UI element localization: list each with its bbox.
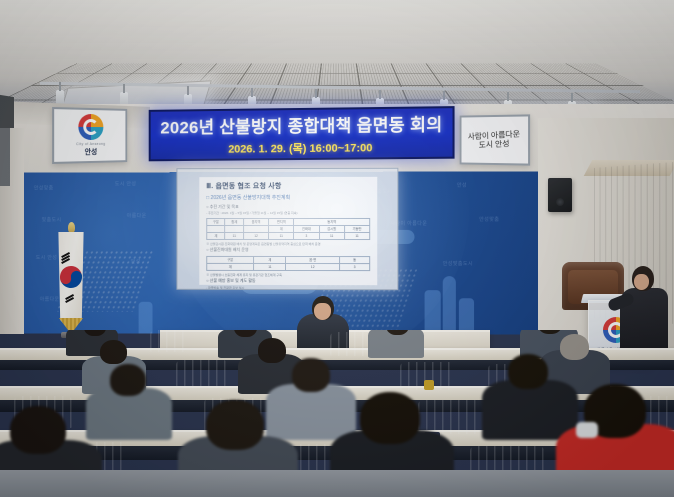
slide-table-2: 구분 계 읍·면 동 계 11 12 3	[206, 256, 370, 271]
table-header-cell: 계	[254, 257, 286, 264]
backdrop-watermark: 안성	[457, 182, 467, 189]
right-calligraphy-screen: 사람이 아름다운 도시 안성	[460, 114, 530, 165]
slide-subtitle: □ 2026년 읍면동 산불방지대책 추진계획	[206, 194, 370, 202]
table-cell: 11	[225, 233, 243, 240]
speaker-face	[634, 274, 649, 290]
conference-hall-photo: City of Anseong 안성 2026년 산불방지 종합대책 읍면동 회…	[0, 0, 674, 497]
slide-note-2: ※ 산불발생시 초동진화 체계 유지 및 유관기관 협조체계 구축	[206, 273, 370, 277]
backdrop-watermark: 맞춤도시	[42, 216, 62, 223]
table-cell: 계	[207, 264, 254, 271]
table-row: 계 11 12 11 3 11 11	[207, 233, 370, 240]
table-header-cell: 구분	[207, 257, 254, 264]
slide-note-1: ※ 산불감시원·진화대원 배치 및 운영계획은 읍면동별 산불취약지역 중심으로…	[206, 242, 370, 246]
slide-note-3: - 마을방송 및 전광판 홍보 실시	[206, 286, 370, 290]
table-header-cell: 읍·면	[286, 257, 340, 264]
table-header-cell: 면지역	[269, 219, 294, 226]
table-subheader-cell	[207, 226, 225, 233]
backdrop-watermark: 안성맞춤도시	[443, 260, 473, 267]
anseong-city-logo: City of Anseong 안성	[76, 114, 105, 158]
slide-title: Ⅲ. 읍면동 협조 요청 사항	[206, 182, 370, 193]
backdrop-watermark: 안성	[131, 258, 141, 265]
slide-line-1: - 추진기간 : 2026. 1월 ~ 5월 15일 / 가을철 11월 ~ 1…	[206, 211, 370, 215]
left-logo-screen: City of Anseong 안성	[52, 107, 127, 164]
slide-section-3: ○ 산불 예방 홍보 및 계도 활동	[206, 278, 370, 284]
desk-item	[424, 380, 434, 390]
table-cell: 3	[340, 264, 370, 271]
table-header-cell: 읍지역	[244, 219, 269, 226]
backdrop-watermark: 아름다운	[127, 212, 147, 219]
table-subheader-cell: 계	[269, 226, 294, 233]
table-cell: 11	[269, 233, 294, 240]
table-header-cell: 동지역	[294, 219, 370, 226]
table-cell: 11	[344, 233, 369, 240]
table-cell: 11	[254, 264, 286, 271]
official-face	[314, 303, 331, 320]
city-logo-icon	[78, 114, 103, 140]
korea-national-flag	[56, 232, 86, 332]
table-subheader-row: 계 진화대 감시원 기동반	[207, 226, 370, 233]
banner-subtitle: 2026. 1. 29. (목) 16:00~17:00	[228, 139, 372, 156]
table-header-cell: 구분	[207, 219, 225, 226]
table-header-cell: 동	[340, 257, 370, 264]
led-banner: 2026년 산불방지 종합대책 읍면동 회의 2026. 1. 29. (목) …	[149, 106, 455, 161]
floor	[0, 470, 674, 497]
audience-chair[interactable]	[150, 330, 190, 352]
backdrop-watermark: 안성맞춤	[479, 216, 499, 223]
table-cell: 12	[244, 233, 269, 240]
table-cell: 계	[207, 233, 225, 240]
table-cell: 3	[294, 233, 319, 240]
pa-speaker-icon	[548, 178, 572, 212]
presentation-slide: Ⅲ. 읍면동 협조 요청 사항 □ 2026년 읍면동 산불방지대책 추진계획 …	[199, 177, 377, 285]
taeguk-symbol	[58, 264, 84, 290]
slide-section-2: ○ 산불진화대원 배치 운영	[206, 247, 370, 253]
table-cell: 11	[319, 233, 344, 240]
table-row: 계 11 12 3	[207, 264, 370, 271]
calligraphy-text: 사람이 아름다운 도시 안성	[468, 129, 521, 150]
backdrop-watermark: 안성맞춤	[34, 184, 54, 191]
projection-screen: Ⅲ. 읍면동 협조 요청 사항 □ 2026년 읍면동 산불방지대책 추진계획 …	[176, 168, 398, 290]
backdrop-watermark: 도시 안성	[36, 254, 57, 261]
backdrop-watermark: 아름다운	[40, 296, 60, 303]
table-subheader-cell	[225, 226, 243, 233]
table-cell: 12	[286, 264, 340, 271]
logo-korean-caption: 안성	[85, 147, 97, 157]
left-wall-frame	[0, 128, 10, 186]
backdrop-building	[425, 290, 441, 334]
backdrop-building	[139, 302, 153, 334]
slide-table-1: 구분 합계 읍지역 면지역 동지역 계 진화대 감시원 기동반 계	[206, 218, 370, 240]
table-subheader-cell: 진화대	[294, 226, 319, 233]
backdrop-building	[443, 276, 456, 334]
table-header-row: 구분 합계 읍지역 면지역 동지역	[207, 219, 370, 226]
table-header-cell: 합계	[225, 219, 243, 226]
table-subheader-cell	[244, 226, 269, 233]
face-mask-icon	[576, 422, 598, 438]
audience-chair[interactable]	[176, 360, 228, 388]
banner-title: 2026년 산불방지 종합대책 읍면동 회의	[160, 110, 442, 138]
audience-chair[interactable]	[418, 400, 480, 434]
table-subheader-cell: 기동반	[344, 226, 369, 233]
table-subheader-cell: 감시원	[319, 226, 344, 233]
slide-section-1: ○ 추진 기간 및 목표	[206, 203, 370, 209]
logo-english-caption: City of Anseong	[76, 142, 105, 146]
backdrop-watermark: 도시 안성	[115, 180, 137, 187]
